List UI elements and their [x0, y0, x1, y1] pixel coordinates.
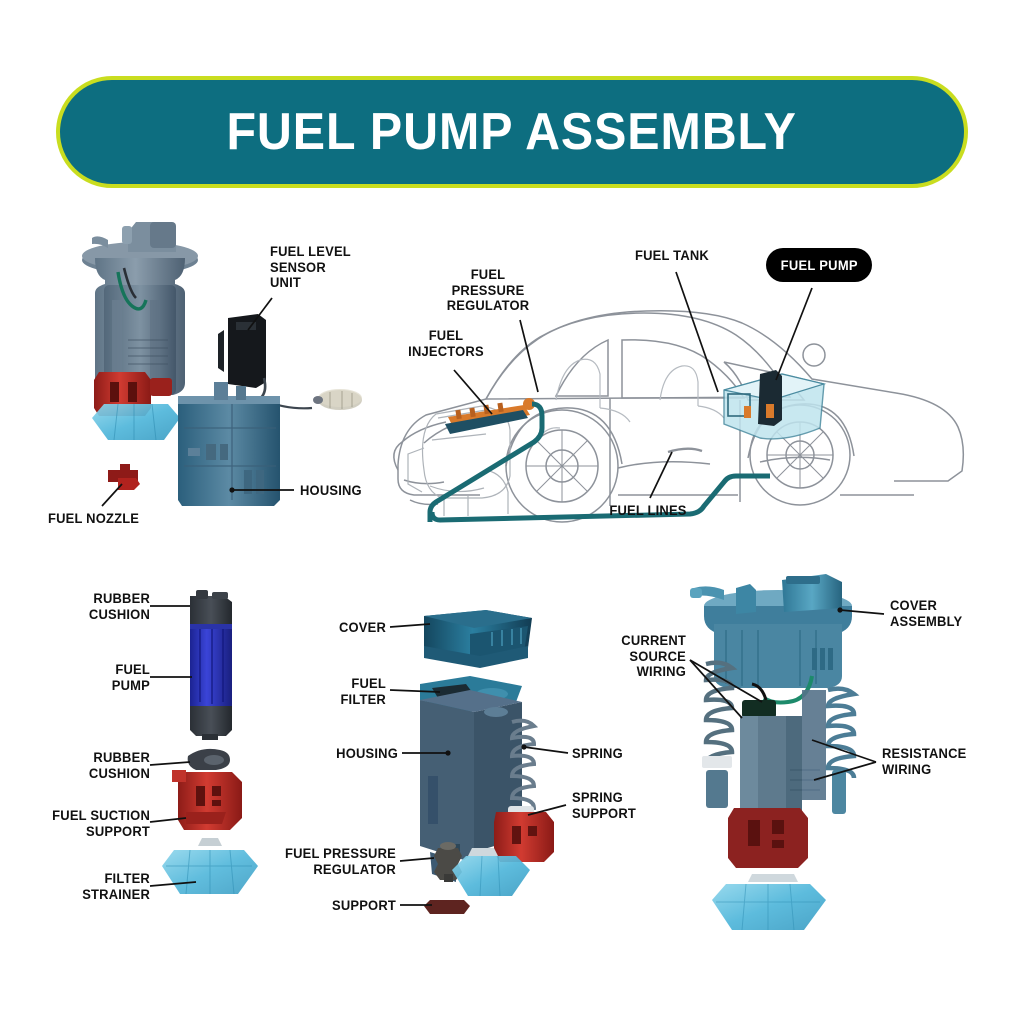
label-spring: SPRING [572, 746, 623, 762]
label-support: SUPPORT [296, 898, 396, 914]
page-title: FUEL PUMP ASSEMBLY [227, 102, 797, 162]
label-fuel-nozzle: FUEL NOZZLE [48, 511, 139, 527]
art-housing-exploded [390, 610, 568, 914]
label-fuel-tank: FUEL TANK [622, 248, 722, 264]
art-complete-assembly [690, 574, 884, 930]
label-current-source-wiring: CURRENT SOURCE WIRING [603, 633, 686, 680]
label-rubber-cushion-top: RUBBER CUSHION [44, 591, 150, 622]
page-title-banner: FUEL PUMP ASSEMBLY [56, 76, 968, 188]
label-housing-exploded: HOUSING [300, 746, 398, 762]
label-fuel-filter: FUEL FILTER [303, 676, 386, 707]
label-fuel-pressure-regulator-car: FUEL PRESSURE REGULATOR [423, 267, 554, 314]
label-cover-assembly: COVER ASSEMBLY [890, 598, 962, 629]
label-cover: COVER [303, 620, 386, 636]
diagram-stage: FUEL PUMP ASSEMBLY [0, 0, 1024, 1024]
label-filter-strainer: FILTER STRAINER [44, 871, 150, 902]
label-fuel-injectors: FUEL INJECTORS [398, 328, 494, 359]
art-fuel-system [420, 370, 824, 522]
label-fuel-pump-badge-text: FUEL PUMP [781, 258, 858, 273]
label-fuel-pressure-regulator-housing: FUEL PRESSURE REGULATOR [277, 846, 396, 877]
art-pump-cartridge [150, 590, 258, 894]
label-fuel-lines: FUEL LINES [598, 503, 698, 519]
label-resistance-wiring: RESISTANCE WIRING [882, 746, 966, 777]
label-fuel-pump-badge: FUEL PUMP [766, 248, 872, 282]
label-fuel-level-sensor-unit: FUEL LEVEL SENSOR UNIT [270, 244, 351, 291]
label-rubber-cushion-bottom: RUBBER CUSHION [44, 750, 150, 781]
label-fuel-suction-support: FUEL SUCTION SUPPORT [29, 808, 150, 839]
label-housing-module: HOUSING [300, 483, 362, 499]
label-spring-support: SPRING SUPPORT [572, 790, 636, 821]
label-fuel-pump-cartridge: FUEL PUMP [44, 662, 150, 693]
